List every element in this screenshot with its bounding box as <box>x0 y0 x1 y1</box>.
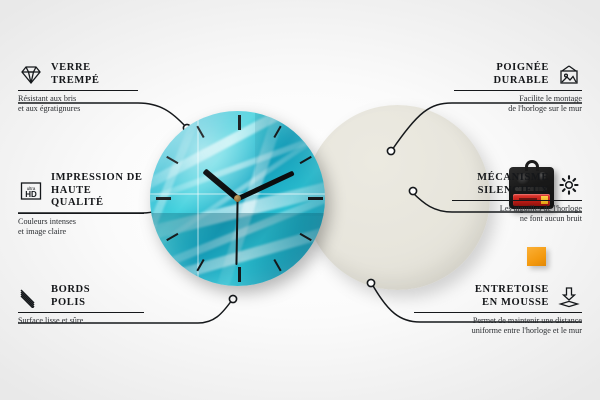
feature-subtitle: Les aiguilles de l'horlogene font aucun … <box>452 204 582 224</box>
ultra-hd-badge-icon: ultra HD <box>18 180 44 202</box>
feature-title: BORDSPOLIS <box>51 284 90 309</box>
divider <box>18 312 144 313</box>
foam-spacer <box>527 247 546 266</box>
divider <box>18 213 144 214</box>
feature-title: VERRETREMPÉ <box>51 62 100 87</box>
feature-subtitle: Surface lisse et sûre <box>18 316 144 326</box>
down-arrow-platform-icon <box>556 286 582 308</box>
infographic-canvas: VERRETREMPÉ Résistant aux briset aux égr… <box>0 0 600 400</box>
feature-title: MÉCANISMESILENCIEUX <box>477 172 549 197</box>
feature-subtitle: Couleurs intenseset image claire <box>18 217 144 237</box>
feature-entretoise-en-mousse[interactable]: ENTRETOISEEN MOUSSE Permet de maintenir … <box>414 284 582 336</box>
divider <box>18 90 138 91</box>
feature-mecanisme-silencieux[interactable]: MÉCANISMESILENCIEUX Les aiguilles de l'h… <box>452 172 582 224</box>
hands-cap-nut <box>234 195 241 202</box>
product-assembly <box>150 105 450 290</box>
feature-verre-trempe[interactable]: VERRETREMPÉ Résistant aux briset aux égr… <box>18 62 138 114</box>
wire-endpoint <box>229 295 236 302</box>
feature-subtitle: Résistant aux briset aux égratignures <box>18 94 138 114</box>
clock-face <box>150 111 325 286</box>
hanger-loop-icon <box>525 160 539 171</box>
divider <box>454 90 582 91</box>
feature-title: POIGNÉEDURABLE <box>493 62 549 87</box>
feature-subtitle: Facilite le montagede l'horloge sur le m… <box>454 94 582 114</box>
divider <box>414 312 582 313</box>
divider <box>452 200 582 201</box>
feature-impression-haute-qualite[interactable]: ultra HD IMPRESSION DEHAUTE QUALITÉ Coul… <box>18 172 144 237</box>
feature-bords-polis[interactable]: BORDSPOLIS Surface lisse et sûre <box>18 284 144 326</box>
feature-poignee-durable[interactable]: POIGNÉEDURABLE Facilite le montagede l'h… <box>454 62 582 114</box>
feature-title: IMPRESSION DEHAUTE QUALITÉ <box>51 172 144 210</box>
feature-subtitle: Permet de maintenir une distanceuniforme… <box>414 316 582 336</box>
svg-text:HD: HD <box>25 190 37 199</box>
diagonal-lines-icon <box>18 286 44 308</box>
feature-title: ENTRETOISEEN MOUSSE <box>475 284 549 309</box>
wall-hanger-frame-icon <box>556 64 582 86</box>
gear-icon <box>556 174 582 196</box>
diamond-icon <box>18 64 44 86</box>
